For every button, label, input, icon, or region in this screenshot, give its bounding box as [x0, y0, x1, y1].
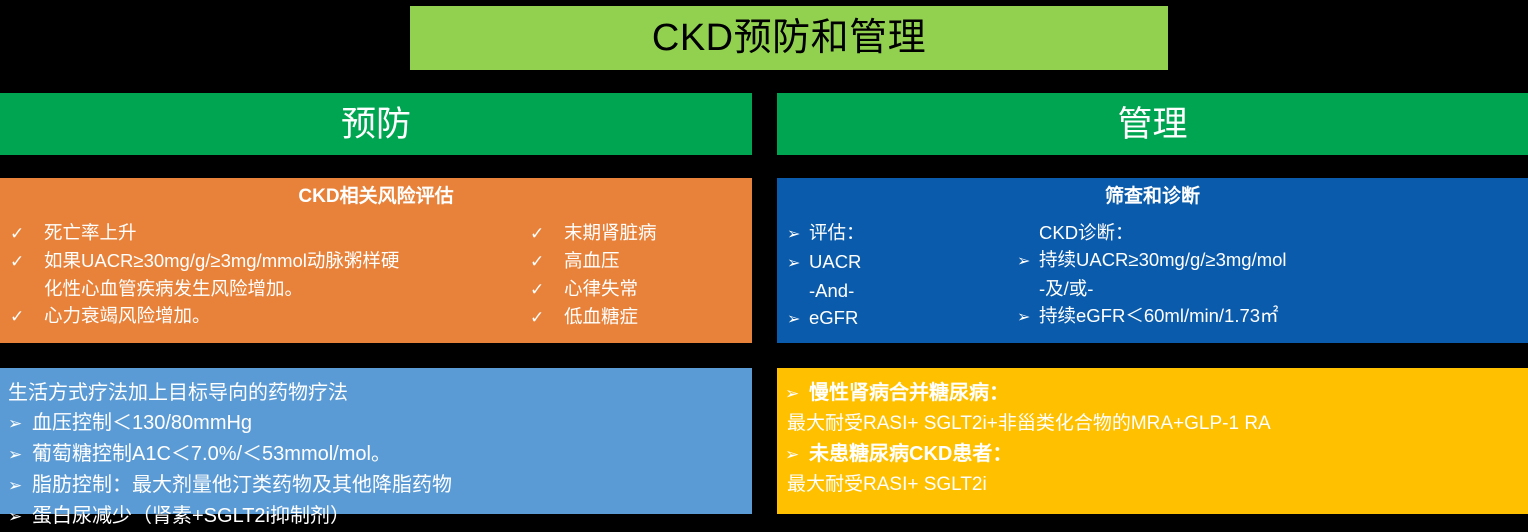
screening-left-connector: -And-: [787, 277, 1017, 304]
list-item: ✓ 高血压: [530, 247, 740, 275]
screening-right-connector: -及/或-: [1017, 275, 1517, 302]
list-item: ✓ 心力衰竭风险增加。: [10, 302, 530, 330]
list-item: ✓ 如果UACR≥30mg/g/≥3mg/mmol动脉粥样硬: [10, 247, 530, 275]
panel-screening-body: ➢ 评估： ➢ UACR -And- ➢ eGFR CKD诊断： ➢ 持续UAC…: [787, 219, 1518, 333]
panel-risk-heading: CKD相关风险评估: [10, 186, 742, 209]
arrow-bullet-icon: ➢: [8, 471, 32, 501]
panel-screening-right-column: CKD诊断： ➢ 持续UACR≥30mg/g/≥3mg/mol -及/或- ➢ …: [1017, 219, 1517, 331]
list-item: ➢ 未患糖尿病CKD患者：: [785, 439, 1518, 470]
list-item: ➢ 持续UACR≥30mg/g/≥3mg/mol: [1017, 246, 1517, 275]
check-icon: ✓: [530, 304, 564, 331]
check-icon: ✓: [10, 303, 44, 330]
list-item: ➢ 慢性肾病合并糖尿病：: [785, 378, 1518, 409]
page-title-banner: CKD预防和管理: [410, 6, 1168, 70]
list-item: ➢ 血压控制＜130/80mmHg: [8, 408, 742, 439]
panel-screening-left-column: ➢ 评估： ➢ UACR -And- ➢ eGFR: [787, 219, 1017, 333]
list-item-label: 心力衰竭风险增加。: [44, 302, 530, 329]
check-icon: ✓: [530, 276, 564, 303]
column-header-management-label: 管理: [1117, 107, 1187, 142]
list-item-label: 低血糖症: [564, 303, 740, 330]
list-item: ➢ 蛋白尿减少（肾素+SGLT2i抑制剂）: [8, 501, 742, 532]
list-item: ✓ 低血糖症: [530, 303, 740, 331]
arrow-bullet-icon: ➢: [787, 306, 809, 333]
arrow-bullet-icon: ➢: [8, 409, 32, 439]
list-item-label: 死亡率上升: [44, 219, 530, 246]
list-item: ✓ 心律失常: [530, 275, 740, 303]
list-item-label: 蛋白尿减少（肾素+SGLT2i抑制剂）: [32, 501, 742, 531]
check-icon: ✓: [10, 220, 44, 247]
panel-lifestyle-therapy: 生活方式疗法加上目标导向的药物疗法 ➢ 血压控制＜130/80mmHg ➢ 葡萄…: [0, 368, 752, 514]
list-item-label: 脂肪控制：最大剂量他汀类药物及其他降脂药物: [32, 470, 742, 500]
list-item: ➢ UACR: [787, 248, 1017, 277]
list-item-label: 末期肾脏病: [564, 219, 740, 246]
list-item-label: 慢性肾病合并糖尿病：: [809, 378, 1518, 408]
panel-treatment-regimen: ➢ 慢性肾病合并糖尿病： 最大耐受RASI+ SGLT2i+非甾类化合物的MRA…: [777, 368, 1528, 514]
check-icon: ✓: [10, 248, 44, 275]
arrow-bullet-icon: ➢: [787, 221, 809, 248]
arrow-bullet-icon: ➢: [785, 440, 809, 470]
arrow-bullet-icon: ➢: [1017, 248, 1039, 275]
list-item: ➢ 持续eGFR＜60ml/min/1.73㎡: [1017, 302, 1517, 331]
list-item-label: 持续eGFR＜60ml/min/1.73㎡: [1039, 302, 1517, 329]
screening-right-title: CKD诊断：: [1017, 219, 1517, 246]
list-item-continuation: 化性心血管疾病发生风险增加。: [10, 275, 530, 302]
list-item-label: 评估：: [809, 219, 1017, 246]
list-item: ➢ 评估：: [787, 219, 1017, 248]
column-header-prevention: 预防: [0, 93, 752, 155]
list-item-label: 葡萄糖控制A1C＜7.0%/＜53mmol/mol。: [32, 439, 742, 469]
list-item-label: eGFR: [809, 304, 1017, 331]
list-item-label: 持续UACR≥30mg/g/≥3mg/mol: [1039, 246, 1517, 273]
list-item-label: 心律失常: [564, 275, 740, 302]
treatment-detail: 最大耐受RASI+ SGLT2i: [785, 470, 1518, 500]
list-item: ➢ 脂肪控制：最大剂量他汀类药物及其他降脂药物: [8, 470, 742, 501]
arrow-bullet-icon: ➢: [1017, 304, 1039, 331]
treatment-detail: 最大耐受RASI+ SGLT2i+非甾类化合物的MRA+GLP-1 RA: [785, 409, 1518, 439]
arrow-bullet-icon: ➢: [8, 502, 32, 532]
panel-risk-body: ✓ 死亡率上升 ✓ 如果UACR≥30mg/g/≥3mg/mmol动脉粥样硬 化…: [10, 219, 742, 331]
arrow-bullet-icon: ➢: [785, 379, 809, 409]
column-header-management: 管理: [777, 93, 1528, 155]
check-icon: ✓: [530, 220, 564, 247]
check-icon: ✓: [530, 248, 564, 275]
therapy-title: 生活方式疗法加上目标导向的药物疗法: [8, 378, 742, 408]
page-title: CKD预防和管理: [652, 19, 926, 57]
panel-risk-right-column: ✓ 末期肾脏病 ✓ 高血压 ✓ 心律失常 ✓ 低血糖症: [530, 219, 740, 331]
arrow-bullet-icon: ➢: [787, 250, 809, 277]
list-item-label: 血压控制＜130/80mmHg: [32, 408, 742, 438]
list-item: ➢ 葡萄糖控制A1C＜7.0%/＜53mmol/mol。: [8, 439, 742, 470]
panel-risk-assessment: CKD相关风险评估 ✓ 死亡率上升 ✓ 如果UACR≥30mg/g/≥3mg/m…: [0, 178, 752, 343]
list-item: ✓ 末期肾脏病: [530, 219, 740, 247]
panel-screening-diagnosis: 筛查和诊断 ➢ 评估： ➢ UACR -And- ➢ eGFR CKD诊断： ➢…: [777, 178, 1528, 343]
list-item-label: 未患糖尿病CKD患者：: [809, 439, 1518, 469]
list-item-label: 如果UACR≥30mg/g/≥3mg/mmol动脉粥样硬: [44, 247, 530, 274]
panel-risk-left-column: ✓ 死亡率上升 ✓ 如果UACR≥30mg/g/≥3mg/mmol动脉粥样硬 化…: [10, 219, 530, 330]
column-header-prevention-label: 预防: [341, 107, 411, 142]
panel-screening-heading: 筛查和诊断: [787, 186, 1518, 209]
list-item-label: UACR: [809, 248, 1017, 275]
arrow-bullet-icon: ➢: [8, 440, 32, 470]
list-item-label: 高血压: [564, 247, 740, 274]
list-item: ✓ 死亡率上升: [10, 219, 530, 247]
list-item: ➢ eGFR: [787, 304, 1017, 333]
